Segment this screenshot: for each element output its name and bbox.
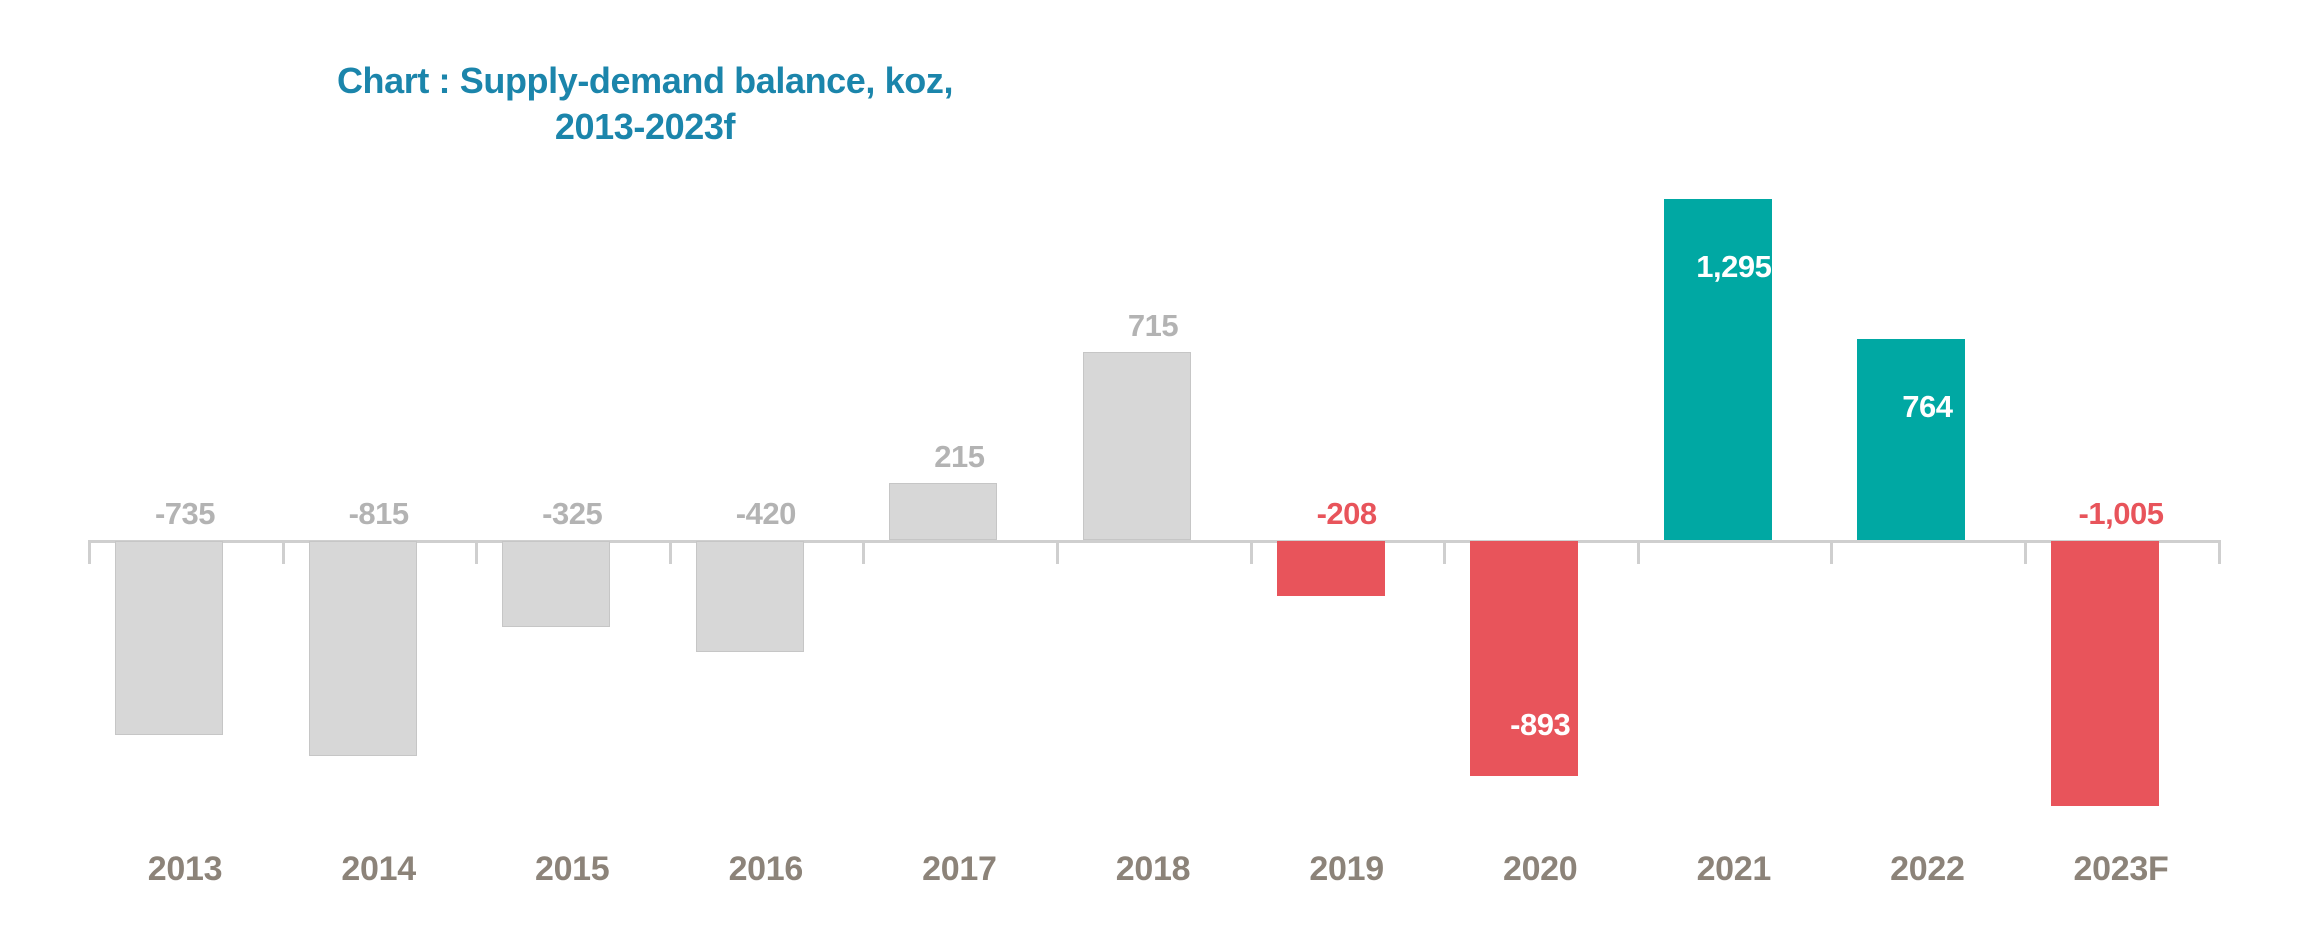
value-label-2013: -735	[88, 498, 282, 529]
value-label-2018: 715	[1056, 310, 1250, 341]
value-label-2019: -208	[1250, 498, 1444, 529]
bar-2019[interactable]	[1277, 541, 1385, 596]
category-label-2016: 2016	[669, 852, 863, 886]
axis-tick	[2218, 540, 2221, 564]
bar-2017[interactable]	[889, 483, 997, 540]
bar-group-2020: -8932020	[1443, 0, 1637, 930]
bar-group-2017: 2152017	[862, 0, 1056, 930]
bar-2015[interactable]	[502, 541, 610, 627]
value-label-2023f: -1,005	[2024, 498, 2218, 529]
value-label-2017: 215	[862, 441, 1056, 472]
bar-2023f[interactable]	[2051, 541, 2159, 806]
category-label-2023f: 2023F	[2024, 852, 2218, 886]
category-label-2015: 2015	[475, 852, 669, 886]
bar-group-2021: 1,2952021	[1637, 0, 1831, 930]
category-label-2013: 2013	[88, 852, 282, 886]
category-label-2017: 2017	[862, 852, 1056, 886]
bar-2013[interactable]	[115, 541, 223, 735]
category-label-2014: 2014	[282, 852, 476, 886]
value-label-2020: -893	[1443, 709, 1637, 740]
value-label-2021: 1,295	[1637, 251, 1831, 282]
bar-2018[interactable]	[1083, 352, 1191, 540]
bar-group-2016: -4202016	[669, 0, 863, 930]
bar-group-2019: -2082019	[1250, 0, 1444, 930]
bar-group-2018: 7152018	[1056, 0, 1250, 930]
bar-group-2023f: -1,0052023F	[2024, 0, 2218, 930]
category-label-2020: 2020	[1443, 852, 1637, 886]
value-label-2015: -325	[475, 498, 669, 529]
bar-group-2013: -7352013	[88, 0, 282, 930]
value-label-2014: -815	[282, 498, 476, 529]
bar-2022[interactable]	[1857, 339, 1965, 540]
bar-2014[interactable]	[309, 541, 417, 756]
bar-group-2014: -8152014	[282, 0, 476, 930]
category-label-2021: 2021	[1637, 852, 1831, 886]
bar-2016[interactable]	[696, 541, 804, 652]
category-label-2018: 2018	[1056, 852, 1250, 886]
chart-plot-area: -7352013-8152014-3252015-420201621520177…	[0, 0, 2310, 930]
category-label-2022: 2022	[1830, 852, 2024, 886]
value-label-2022: 764	[1830, 391, 2024, 422]
bar-group-2022: 7642022	[1830, 0, 2024, 930]
bar-group-2015: -3252015	[475, 0, 669, 930]
category-label-2019: 2019	[1250, 852, 1444, 886]
value-label-2016: -420	[669, 498, 863, 529]
